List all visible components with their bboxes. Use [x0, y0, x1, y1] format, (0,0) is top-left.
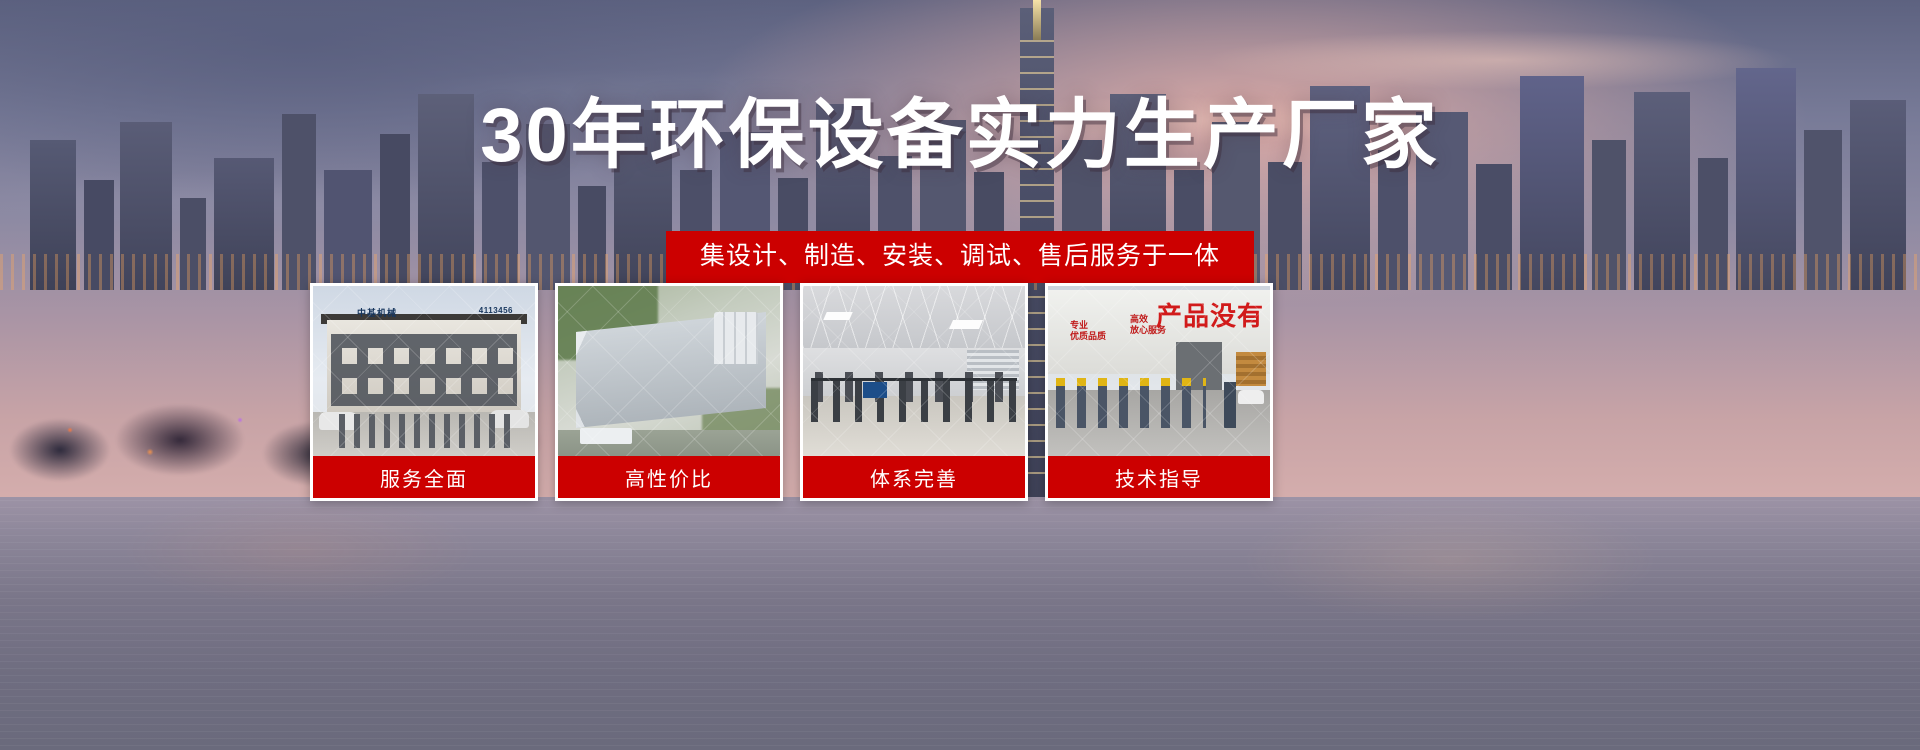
feature-card-row: 中基机械 4113456 服务全面 高性价比	[310, 283, 1562, 495]
water-reflection	[0, 500, 1920, 750]
company-office-building-photo: 中基机械 4113456	[313, 286, 535, 456]
hero-banner: 30年环保设备实力生产厂家 集设计、制造、安装、调试、售后服务于一体 中基机械 …	[0, 0, 1920, 750]
workshop-workers-photo: 产品没有 专业优质品质 高效放心服务	[1048, 286, 1270, 456]
feature-card-service[interactable]: 中基机械 4113456 服务全面	[310, 283, 538, 501]
factory-slogan-right: 高效放心服务	[1130, 314, 1166, 336]
feature-card-system[interactable]: 体系完善	[800, 283, 1028, 501]
feature-card-guidance[interactable]: 产品没有 专业优质品质 高效放心服务 技术指导	[1045, 283, 1273, 501]
building-phone-text: 4113456	[479, 306, 513, 315]
feature-card-caption: 高性价比	[558, 456, 780, 498]
factory-banner-text: 产品没有	[1156, 296, 1264, 333]
feature-card-caption: 体系完善	[803, 456, 1025, 498]
feature-card-value[interactable]: 高性价比	[555, 283, 783, 501]
subtitle-bar-wrapper: 集设计、制造、安装、调试、售后服务于一体	[0, 231, 1920, 283]
feature-card-caption: 技术指导	[1048, 456, 1270, 498]
feature-card-caption: 服务全面	[313, 456, 535, 498]
banner-subtitle-badge: 集设计、制造、安装、调试、售后服务于一体	[666, 231, 1254, 283]
banner-headline: 30年环保设备实力生产厂家	[0, 98, 1920, 174]
factory-slogan-left: 专业优质品质	[1070, 320, 1106, 342]
office-interior-staff-photo	[803, 286, 1025, 456]
aerial-factory-plant-photo	[558, 286, 780, 456]
building-sign-text: 中基机械	[357, 306, 397, 319]
